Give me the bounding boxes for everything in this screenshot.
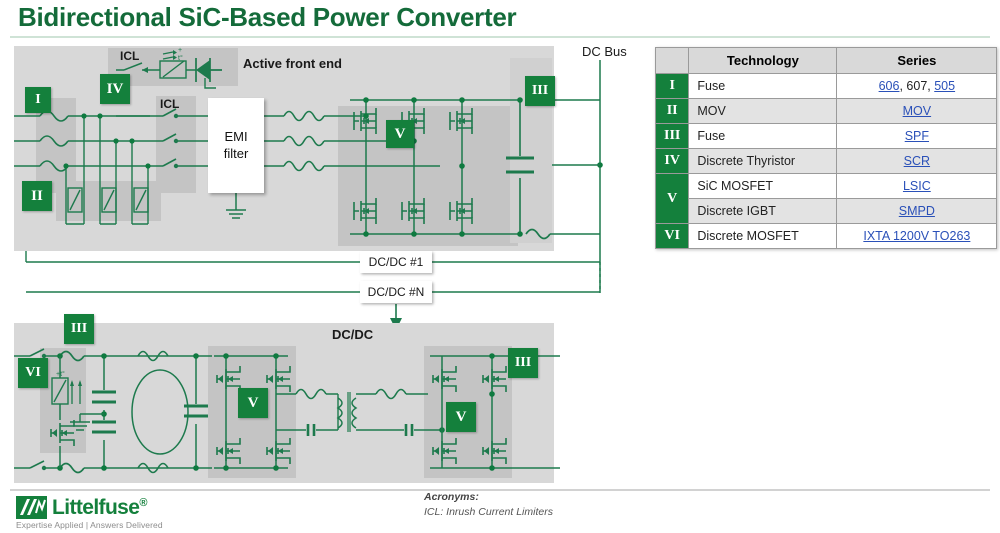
cell-numeral: IV: [656, 149, 689, 174]
label-dcdc-1: DC/DC #1: [360, 251, 432, 273]
cell-numeral: V: [656, 174, 689, 224]
series-link[interactable]: 606: [879, 79, 900, 93]
badge-front-end-mov: II: [22, 181, 52, 211]
cell-numeral: VI: [656, 224, 689, 249]
badge-dcdc-out-fuse: III: [508, 348, 538, 378]
cell-numeral: III: [656, 124, 689, 149]
label-active-front-end: Active front end: [243, 56, 342, 71]
series-link[interactable]: SPF: [905, 129, 929, 143]
cell-series: LSIC: [837, 174, 997, 199]
table-row: VIDiscrete MOSFETIXTA 1200V TO263: [656, 224, 997, 249]
page-title: Bidirectional SiC-Based Power Converter: [18, 2, 516, 33]
series-link[interactable]: LSIC: [903, 179, 931, 193]
series-link[interactable]: SCR: [904, 154, 930, 168]
cell-series: 606, 607, 505: [837, 74, 997, 99]
table-row: IVDiscrete ThyristorSCR: [656, 149, 997, 174]
cell-technology: Discrete Thyristor: [689, 149, 837, 174]
cell-numeral: I: [656, 74, 689, 99]
cell-series: SCR: [837, 149, 997, 174]
cell-series: IXTA 1200V TO263: [837, 224, 997, 249]
emi-filter-line2: filter: [224, 146, 249, 162]
cell-series: SPF: [837, 124, 997, 149]
label-icl-thyristor: ICL: [120, 49, 139, 63]
table-header: Technology Series: [656, 48, 997, 74]
registered-mark: ®: [139, 497, 147, 509]
technology-series-table: Technology Series IFuse606, 607, 505IIMO…: [655, 47, 997, 249]
logo-text: Littelfuse: [52, 496, 139, 519]
table-row: IIIFuseSPF: [656, 124, 997, 149]
cell-series: SMPD: [837, 199, 997, 224]
column-header-numeral: [656, 48, 689, 74]
table-row: IIMOVMOV: [656, 99, 997, 124]
littelfuse-wordmark: Littelfuse®: [52, 496, 147, 520]
logo-tagline: Expertise Applied | Answers Delivered: [16, 520, 163, 530]
table-row: Discrete IGBTSMPD: [656, 199, 997, 224]
cell-technology: Discrete IGBT: [689, 199, 837, 224]
cell-technology: SiC MOSFET: [689, 174, 837, 199]
series-link[interactable]: SMPD: [899, 204, 935, 218]
cell-technology: Discrete MOSFET: [689, 224, 837, 249]
cell-technology: Fuse: [689, 124, 837, 149]
emi-filter-block: EMI filter: [208, 98, 264, 193]
badge-dcdc-discrete-mosfet: VI: [18, 358, 48, 388]
badge-front-end-mosfet: V: [386, 120, 414, 148]
acronyms-body: ICL: Inrush Current Limiters: [424, 505, 553, 520]
acronyms-note: Acronyms: ICL: Inrush Current Limiters: [424, 490, 553, 520]
svg-text:t°: t°: [178, 54, 183, 62]
series-link[interactable]: 505: [934, 79, 955, 93]
badge-front-end-fuse: I: [25, 87, 51, 113]
label-dc-bus: DC Bus: [582, 44, 627, 59]
label-dcdc-n: DC/DC #N: [360, 281, 432, 303]
label-icl-switches: ICL: [160, 97, 179, 111]
svg-text:+: +: [178, 47, 182, 54]
littelfuse-logo-icon: [16, 495, 48, 521]
table-row: VSiC MOSFETLSIC: [656, 174, 997, 199]
badge-dcdc-primary-mosfet: V: [238, 388, 268, 418]
acronyms-title: Acronyms:: [424, 490, 553, 505]
column-header-series: Series: [837, 48, 997, 74]
label-dcdc-block: DC/DC: [332, 327, 373, 342]
table-body: IFuse606, 607, 505IIMOVMOVIIIFuseSPFIVDi…: [656, 74, 997, 249]
series-link[interactable]: IXTA 1200V TO263: [863, 229, 970, 243]
cell-series: MOV: [837, 99, 997, 124]
badge-dcdc-secondary-mosfet: V: [446, 402, 476, 432]
badge-dc-bus-fuse: III: [525, 76, 555, 106]
badge-front-end-thyristor: IV: [100, 74, 130, 104]
cell-technology: MOV: [689, 99, 837, 124]
table-header-row: Technology Series: [656, 48, 997, 74]
badge-dcdc-in-fuse: III: [64, 314, 94, 344]
cell-numeral: II: [656, 99, 689, 124]
series-text: 607: [906, 79, 927, 93]
table-row: IFuse606, 607, 505: [656, 74, 997, 99]
column-header-technology: Technology: [689, 48, 837, 74]
cell-technology: Fuse: [689, 74, 837, 99]
emi-filter-line1: EMI: [224, 129, 247, 145]
converter-schematic: + t°: [0, 38, 648, 498]
series-link[interactable]: MOV: [903, 104, 931, 118]
schematic-svg: + t°: [0, 38, 648, 498]
svg-text:+t°: +t°: [56, 370, 65, 378]
